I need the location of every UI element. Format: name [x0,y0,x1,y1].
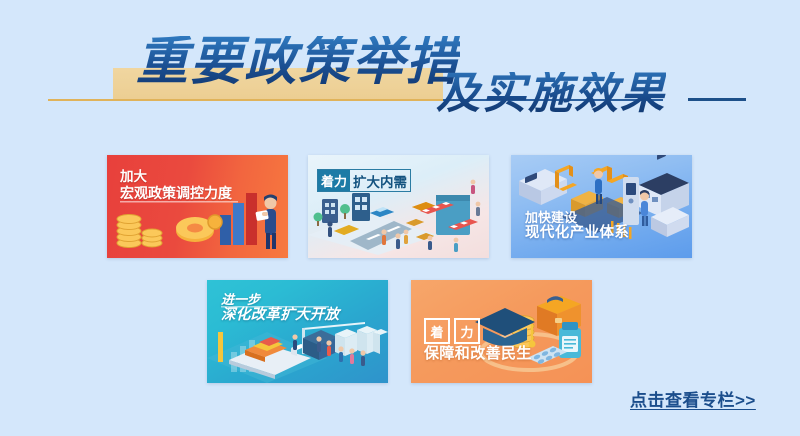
card4-label-line1: 进一步 [221,292,339,307]
card5-label: 保障和改善民生 [424,345,532,363]
card1-label: 加大 宏观政策调控力度 [120,169,232,201]
card-modern-industrial-system[interactable]: 加快建设 现代化产业体系 [511,155,692,258]
banner-stage: 重要政策举措 及实施效果 [0,0,800,436]
card2-label-tag: 着力 [318,170,350,191]
card4-label-line2: 深化改革扩大开放 [221,307,339,324]
card2-label-line2: 扩大内需 [350,170,410,191]
card3-label-line1: 加快建设 [525,210,629,225]
title-block: 重要政策举措 及实施效果 [0,0,800,140]
card2-label: 着力 扩大内需 [317,169,411,192]
card-reform-and-opening-up[interactable]: 进一步 深化改革扩大开放 [207,280,388,383]
card5-label-tagbox: 着 力 [424,318,480,344]
card3-label: 加快建设 现代化产业体系 [525,210,629,242]
card1-label-line2: 宏观政策调控力度 [120,185,232,202]
card5-label-tag-a: 着 [424,318,450,344]
card5-label-line2: 保障和改善民生 [424,345,532,363]
page-subtitle: 及实施效果 [436,72,666,116]
card3-artwork [511,155,692,258]
card3-label-line2: 现代化产业体系 [525,225,629,242]
card1-label-line1: 加大 [120,169,232,185]
card-macro-policy-regulation[interactable]: 加大 宏观政策调控力度 [107,155,288,258]
card-expand-domestic-demand[interactable]: 着力 扩大内需 [308,155,489,258]
tail-rule [688,98,746,101]
gold-rule [48,99,448,101]
page-title: 重要政策举措 [136,36,460,88]
view-column-link[interactable]: 点击查看专栏>> [630,386,756,411]
card-improve-peoples-livelihood[interactable]: 着 力 保障和改善民生 [411,280,592,383]
card4-label: 进一步 深化改革扩大开放 [221,292,339,324]
card5-label-tag-b: 力 [454,318,480,344]
